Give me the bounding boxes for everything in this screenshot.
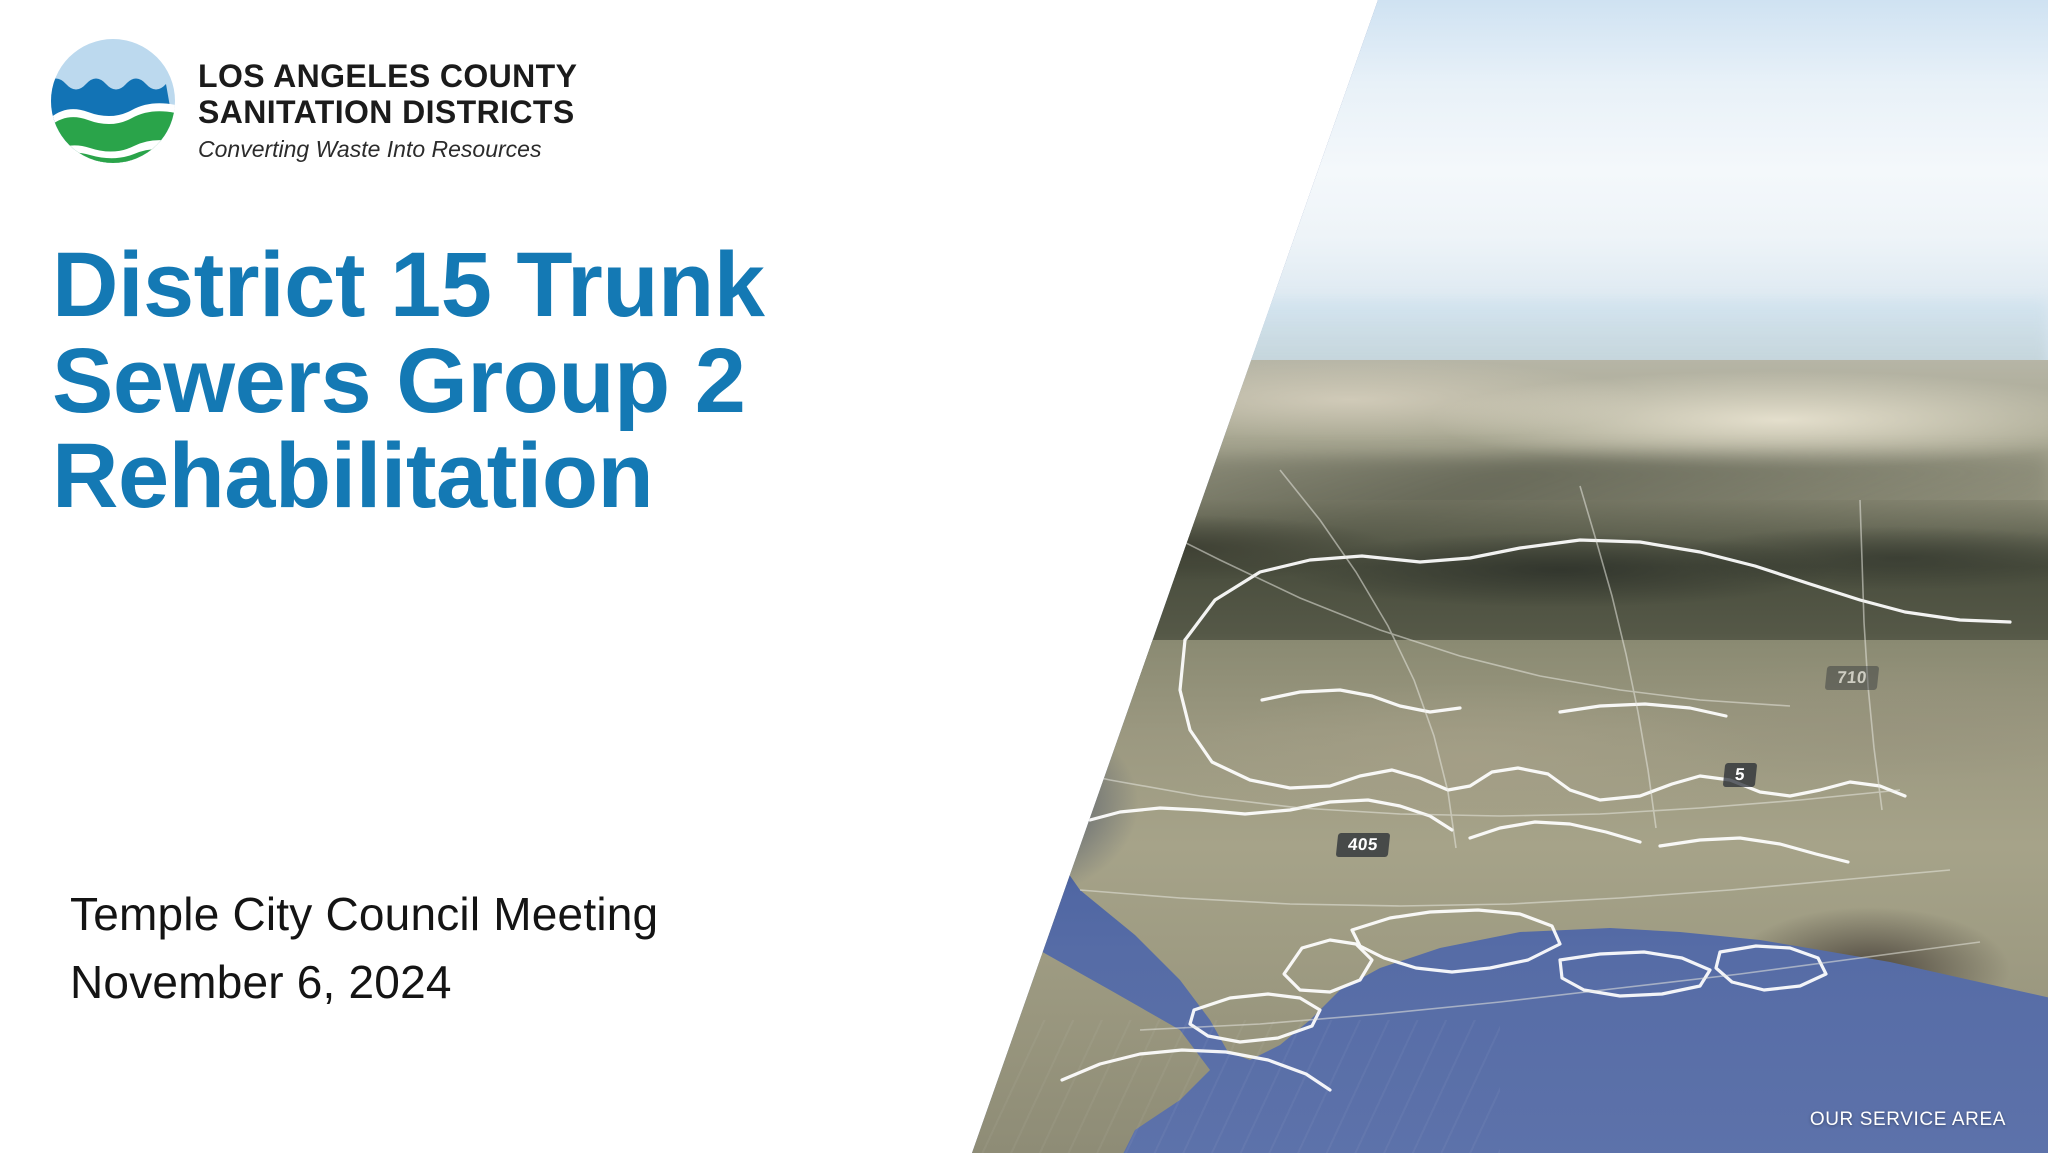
meeting-date: November 6, 2024 <box>70 948 870 1016</box>
freeway-shield-405: 405 <box>1336 833 1390 857</box>
slide-title: District 15 Trunk Sewers Group 2 Rehabil… <box>52 238 912 525</box>
freeway-shield-710: 710 <box>1825 666 1879 690</box>
sanitation-districts-logo-icon <box>50 38 176 164</box>
freeway-shield-5: 5 <box>1723 763 1757 787</box>
organization-logo-text: LOS ANGELES COUNTY SANITATION DISTRICTS … <box>198 38 577 163</box>
logo-line-2: SANITATION DISTRICTS <box>198 94 577 130</box>
slide-subtitle-block: Temple City Council Meeting November 6, … <box>70 880 870 1016</box>
title-line-3: Rehabilitation <box>52 429 912 525</box>
meeting-name: Temple City Council Meeting <box>70 880 870 948</box>
logo-tagline: Converting Waste Into Resources <box>198 136 577 163</box>
title-line-2: Sewers Group 2 <box>52 334 912 430</box>
logo-line-1: LOS ANGELES COUNTY <box>198 58 577 94</box>
image-caption: OUR SERVICE AREA <box>1810 1109 2006 1131</box>
organization-logo: LOS ANGELES COUNTY SANITATION DISTRICTS … <box>50 38 577 164</box>
title-line-1: District 15 Trunk <box>52 238 912 334</box>
presentation-slide: 405 5 710 OUR SERVICE AREA <box>0 0 2048 1153</box>
slide-left-content: LOS ANGELES COUNTY SANITATION DISTRICTS … <box>0 0 980 1153</box>
